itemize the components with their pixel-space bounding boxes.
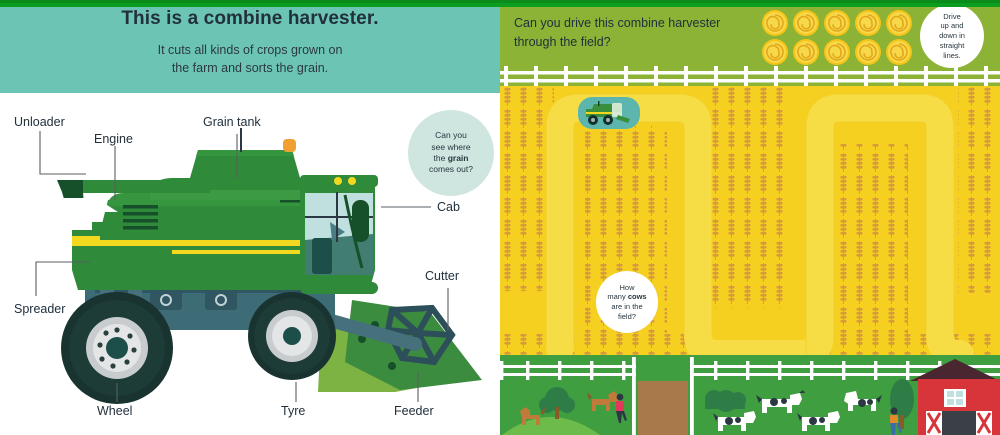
label-cutter: Cutter [425,269,459,283]
bubble-drive-line-1: Drive [939,12,965,22]
bubble-cows-line-4: field? [607,312,646,322]
bubble-grain-line-1: Can you [429,130,473,141]
cab-lamp-icon [348,177,356,185]
label-cab: Cab [437,200,460,214]
rear-wheel-icon [248,292,336,380]
cab-door-handle-icon [352,200,369,242]
antenna-icon [240,128,242,152]
maze-field: How many cows are in the field? [500,86,1000,355]
label-unloader: Unloader [14,115,65,129]
bubble-grain-line-3: the grain [429,153,473,164]
grain-question-bubble: Can you see where the grain comes out? [408,110,494,196]
bubble-cows-line-2: many cows [607,292,646,302]
cows-question-bubble: How many cows are in the field? [596,271,658,333]
hay-bales-group [762,8,912,68]
maze-start-marker [578,97,640,129]
beacon-light-icon [283,139,296,152]
bubble-drive-line-5: lines. [939,51,965,61]
label-wheel: Wheel [97,404,132,418]
top-border [0,0,1000,7]
bubble-drive-line-4: straight [939,41,965,51]
mini-harvester-icon [578,97,640,129]
bubble-cows-line-3: are in the [607,302,646,312]
bubble-drive-line-3: down in [939,31,965,41]
combine-harvester-illustration [0,0,500,435]
label-feeder: Feeder [394,404,434,418]
left-page: This is a combine harvester. It cuts all… [0,0,500,435]
top-fence [500,66,1000,86]
label-engine: Engine [94,132,133,146]
label-grain-tank: Grain tank [203,115,261,129]
bubble-drive-line-2: up and [939,21,965,31]
right-page: Can you drive this combine harvester thr… [500,0,1000,435]
bubble-cows-line-1: How [607,283,646,293]
bush-icon [705,390,746,412]
dirt-track [638,381,688,435]
cab-seat-icon [312,238,332,274]
maze-crop-rows [500,86,1000,355]
unloader-arm-icon [83,180,210,193]
bubble-grain-line-4: comes out? [429,164,473,175]
farm-scene [500,355,1000,435]
book-spread: This is a combine harvester. It cuts all… [0,0,1000,435]
bubble-grain-line-2: see where [429,142,473,153]
label-tyre: Tyre [281,404,305,418]
drive-instruction-bubble: Drive up and down in straight lines. [920,4,984,68]
label-spreader: Spreader [14,302,65,316]
maze-question: Can you drive this combine harvester thr… [514,14,764,53]
cab-lamp-icon [334,177,342,185]
